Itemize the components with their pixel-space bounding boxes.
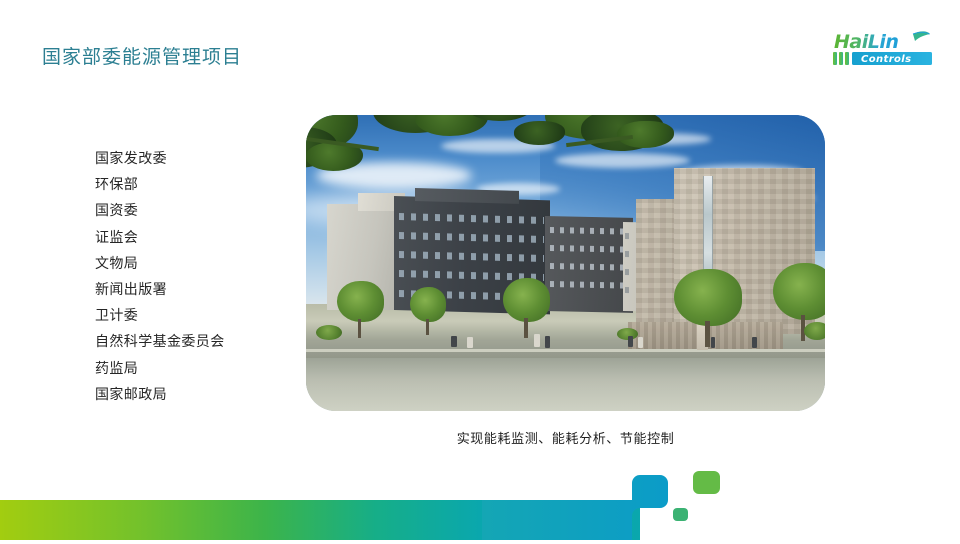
person	[467, 337, 473, 348]
street-tree	[410, 287, 446, 334]
list-item: 证监会	[95, 225, 295, 251]
page-title: 国家部委能源管理项目	[42, 42, 242, 69]
list-item: 新闻出版署	[95, 277, 295, 303]
building-right-wing	[636, 199, 678, 332]
project-photo	[306, 115, 825, 411]
svg-text:Controls: Controls	[861, 54, 912, 65]
list-item: 国家邮政局	[95, 382, 295, 408]
tree-crown	[337, 281, 384, 323]
building-main-roof	[415, 188, 519, 204]
bars-icon	[833, 52, 849, 65]
person	[451, 336, 456, 348]
person	[534, 334, 540, 347]
tree-trunk	[358, 319, 361, 338]
footer-decoration	[0, 440, 960, 540]
street-tree	[337, 281, 384, 337]
tree-crown	[773, 263, 825, 320]
tree-crown	[674, 269, 741, 326]
list-item: 卫计委	[95, 303, 295, 329]
list-item: 国家发改委	[95, 146, 295, 172]
person	[711, 337, 716, 348]
list-item: 药监局	[95, 356, 295, 382]
logo-banner-controls: Controls	[852, 52, 932, 65]
footer-gradient-bar-left	[0, 500, 482, 540]
hailin-controls-logo: HaiLin Controls	[830, 28, 938, 72]
tree-trunk	[426, 319, 429, 335]
curb-line	[306, 349, 825, 352]
person	[752, 337, 757, 348]
agency-list: 国家发改委 环保部 国资委 证监会 文物局 新闻出版署 卫计委 自然科学基金委员…	[95, 146, 295, 408]
street-tree	[674, 269, 741, 346]
tree-trunk	[524, 318, 527, 338]
logo-wordmark-hailin: HaiLin	[834, 31, 898, 53]
slide-canvas: 国家部委能源管理项目	[0, 0, 960, 540]
person	[545, 336, 550, 347]
list-item: 文物局	[95, 251, 295, 277]
street-tree	[503, 278, 550, 337]
person	[628, 336, 633, 348]
list-item: 自然科学基金委员会	[95, 329, 295, 355]
footer-green-square-small	[673, 508, 688, 521]
tree-crown	[410, 287, 446, 322]
leaf-icon	[913, 31, 930, 41]
list-item: 环保部	[95, 172, 295, 198]
photo-render	[306, 115, 825, 411]
list-item: 国资委	[95, 198, 295, 224]
window-band	[550, 281, 628, 289]
footer-green-square-large	[693, 471, 720, 494]
tree-trunk	[705, 321, 710, 347]
shrub	[804, 322, 825, 340]
tree-foliage	[514, 121, 566, 145]
tree-crown	[503, 278, 550, 322]
tree-foliage	[617, 121, 674, 148]
road	[306, 358, 825, 411]
person	[638, 337, 643, 348]
svg-text:HaiLin: HaiLin	[834, 31, 898, 53]
